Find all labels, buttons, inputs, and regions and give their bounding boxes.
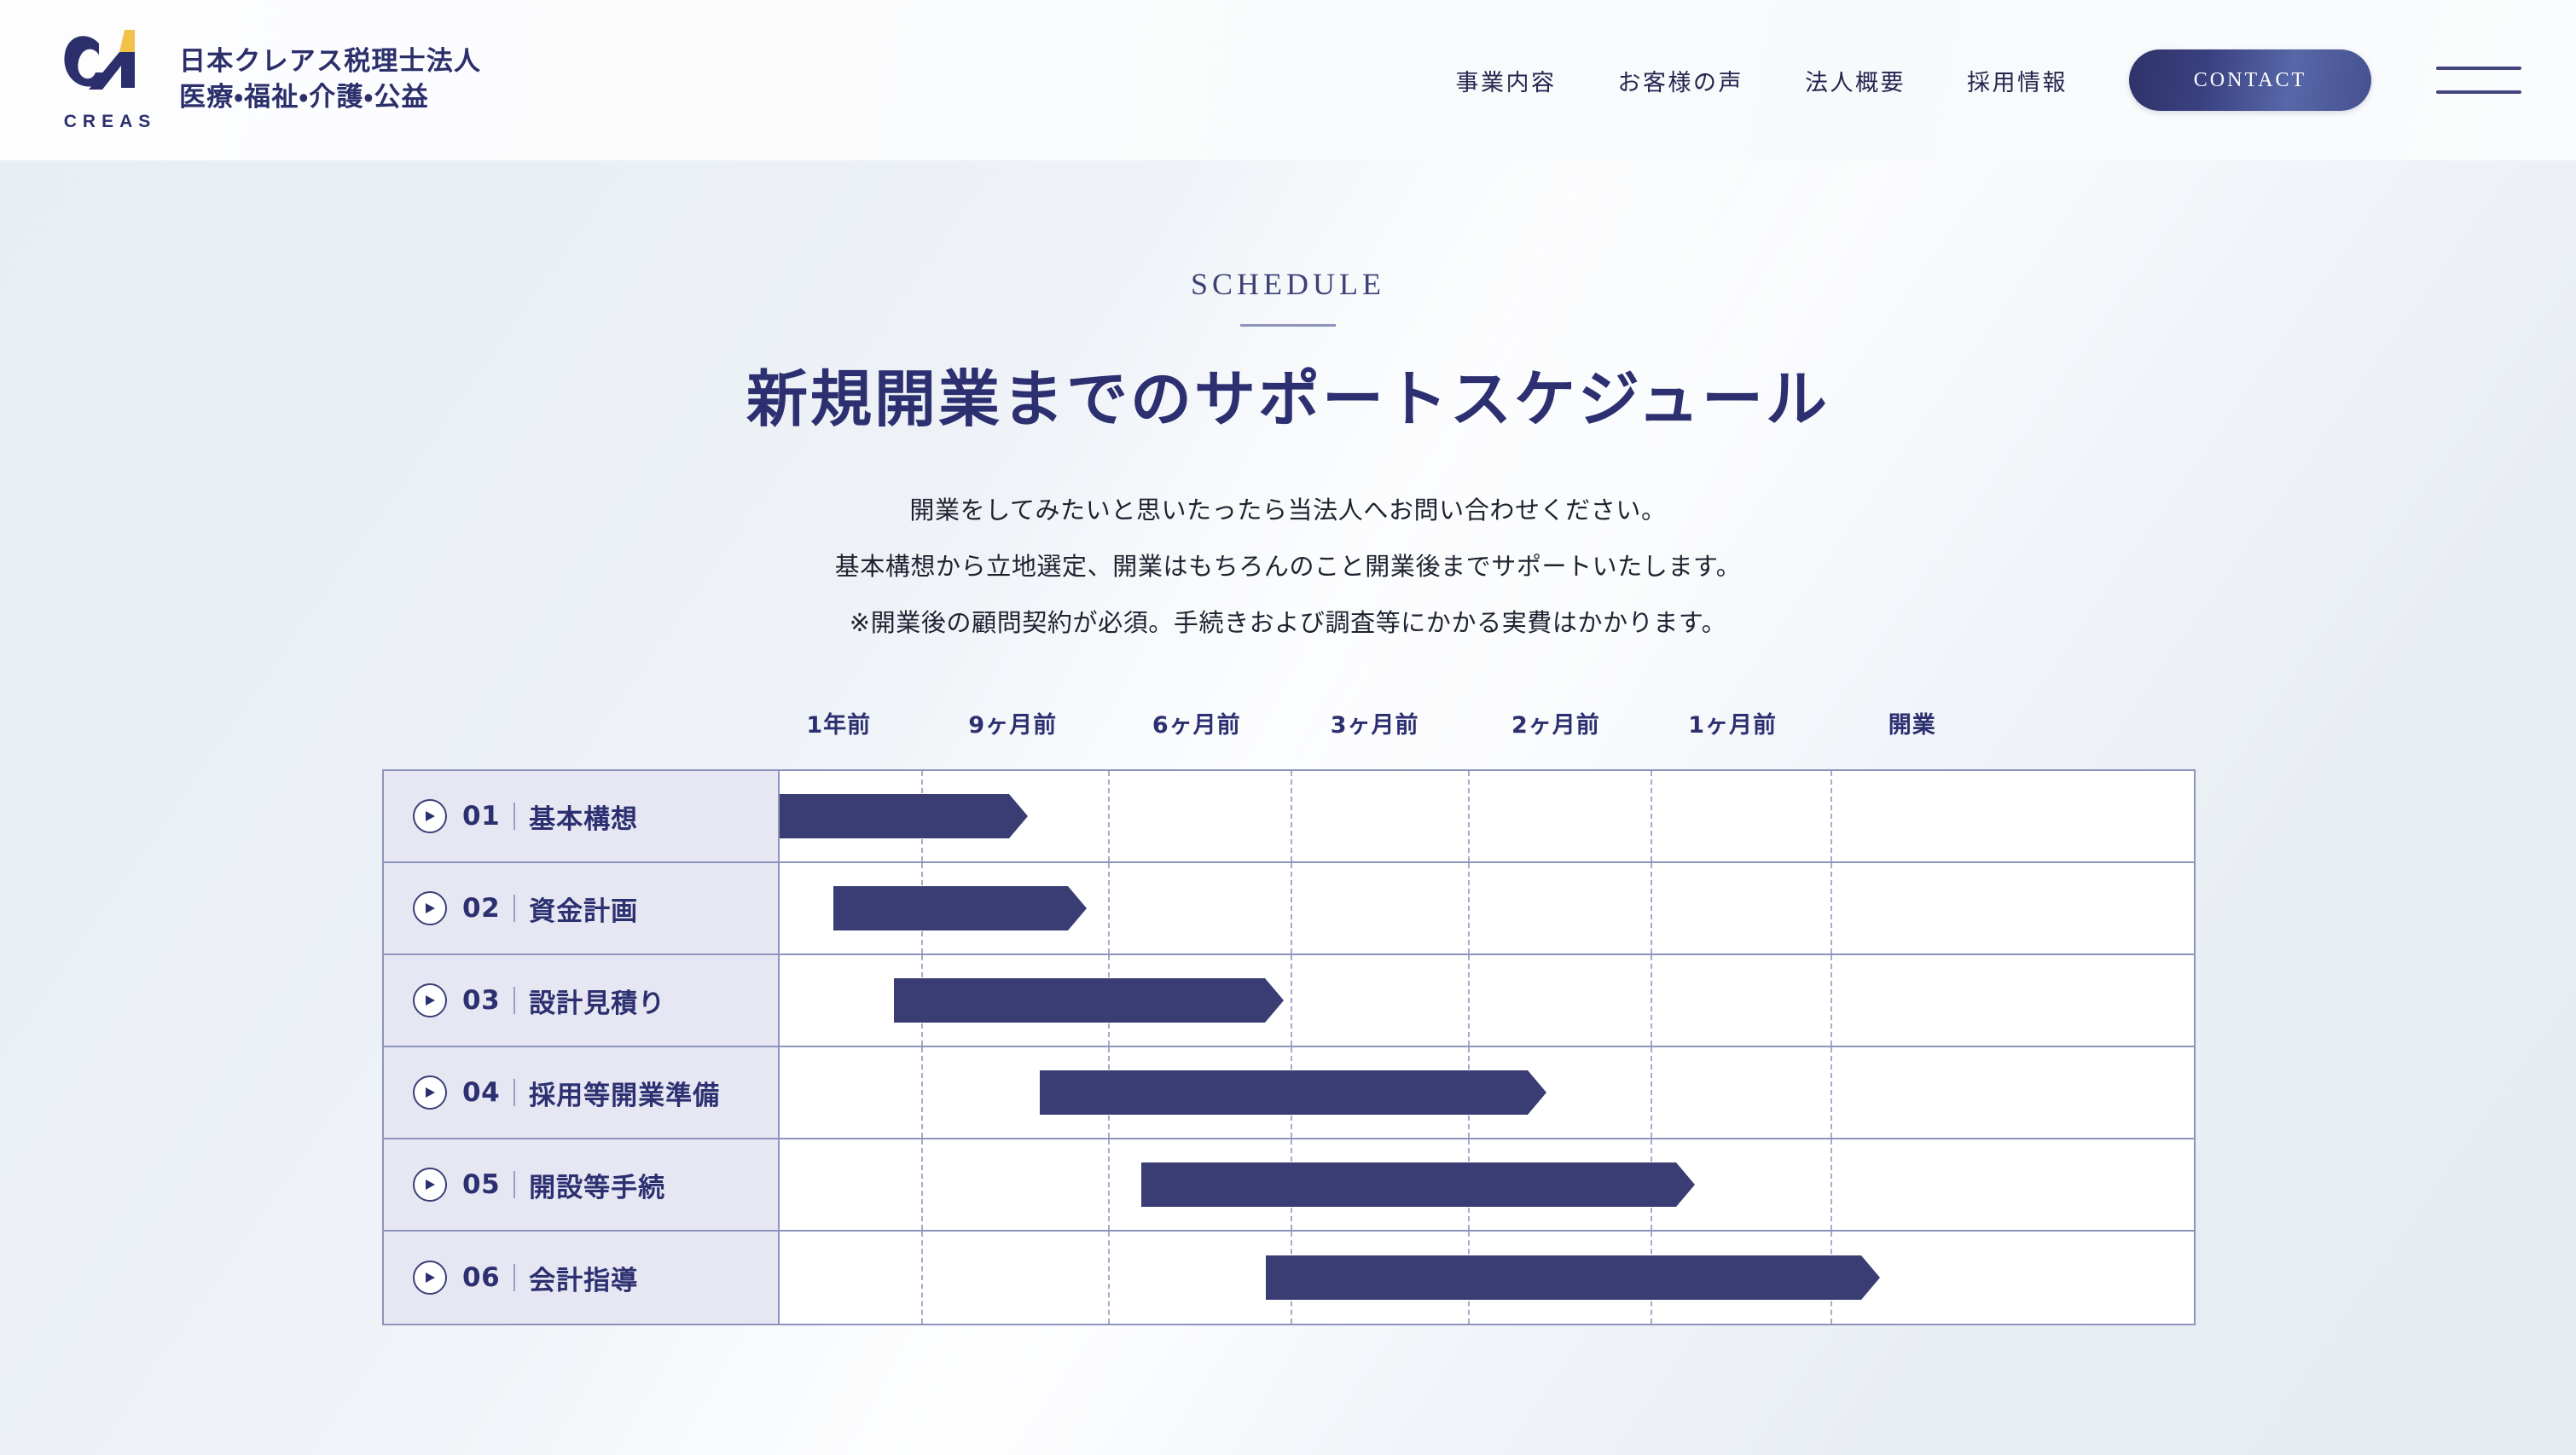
axis-tick-5: 1ヶ月前 (1688, 706, 1777, 739)
gantt-bar-06[interactable] (1266, 1255, 1861, 1300)
gantt-bar-03[interactable] (894, 978, 1264, 1023)
hamburger-line-bottom (2436, 90, 2521, 94)
gantt-bar-04[interactable] (1040, 1070, 1528, 1115)
play-circle-icon[interactable] (413, 983, 447, 1017)
gantt-row-title: 資金計画 (529, 890, 638, 928)
gantt-row-title: 設計見積り (529, 982, 665, 1020)
section-eyebrow: SCHEDULE (0, 266, 2576, 302)
gantt-row-label-02: 02資金計画 (384, 863, 780, 954)
gantt-bar-05[interactable] (1141, 1162, 1676, 1207)
gantt-gridline-4 (1651, 1047, 1652, 1138)
gantt-gridline-1 (1108, 1232, 1110, 1324)
gantt-row-label-06: 06会計指導 (384, 1232, 780, 1324)
gantt-row[interactable]: 01基本構想 (384, 771, 2194, 863)
gantt-gridline-5 (1830, 955, 1832, 1046)
gantt-gridline-0 (921, 1047, 923, 1138)
play-circle-icon[interactable] (413, 1168, 447, 1202)
axis-tick-3: 3ヶ月前 (1331, 706, 1419, 739)
brand-line-2: 医療・福祉・介護・公益 (179, 80, 481, 116)
gantt-row-number: 02 (462, 893, 500, 924)
axis-tick-0: 1年前 (806, 706, 871, 739)
play-circle-icon[interactable] (413, 799, 447, 833)
lead-paragraphs: 開業をしてみたいと思いたったら当法人へお問い合わせください。 基本構想から立地選… (0, 498, 2576, 635)
gantt-gridline-4 (1651, 771, 1652, 861)
schedule-gantt-chart: 1年前9ヶ月前6ヶ月前3ヶ月前2ヶ月前1ヶ月前開業 01基本構想02資金計画03… (382, 706, 2196, 1325)
gantt-gridline-1 (1108, 1139, 1110, 1230)
gantt-gridline-5 (1830, 1047, 1832, 1138)
gantt-gridline-0 (921, 1139, 923, 1230)
gantt-row[interactable]: 04採用等開業準備 (384, 1047, 2194, 1139)
nav-item-company[interactable]: 法人概要 (1805, 64, 1906, 97)
gantt-row-number: 06 (462, 1262, 500, 1293)
gantt-row[interactable]: 03設計見積り (384, 955, 2194, 1047)
nav-item-services[interactable]: 事業内容 (1456, 64, 1557, 97)
gantt-gridline-4 (1651, 863, 1652, 954)
gantt-row-number: 04 (462, 1077, 500, 1108)
gantt-row-label-04: 04採用等開業準備 (384, 1047, 780, 1138)
gantt-gridline-2 (1291, 771, 1292, 861)
label-divider (513, 1171, 515, 1198)
site-header: CREAS 日本クレアス税理士法人 医療・福祉・介護・公益 事業内容 お客様の声… (0, 0, 2576, 160)
creas-logo-icon: CREAS (60, 26, 160, 134)
label-divider (513, 987, 515, 1014)
gantt-row-number: 05 (462, 1169, 500, 1200)
gantt-row-number: 03 (462, 985, 500, 1016)
gantt-row-number: 01 (462, 801, 500, 832)
gantt-table: 01基本構想02資金計画03設計見積り04採用等開業準備05開設等手続06会計指… (382, 769, 2196, 1325)
gantt-row-title: 基本構想 (529, 797, 638, 836)
gantt-row[interactable]: 06会計指導 (384, 1232, 2194, 1324)
label-divider (513, 1264, 515, 1291)
axis-tick-6: 開業 (1888, 706, 1936, 739)
axis-tick-4: 2ヶ月前 (1511, 706, 1600, 739)
gantt-gridline-5 (1830, 863, 1832, 954)
gantt-bar-01[interactable] (780, 794, 1009, 838)
play-circle-icon[interactable] (413, 891, 447, 925)
play-circle-icon[interactable] (413, 1261, 447, 1295)
brand-text: 日本クレアス税理士法人 医療・福祉・介護・公益 (179, 44, 481, 115)
gantt-row[interactable]: 02資金計画 (384, 863, 2194, 955)
contact-button[interactable]: CONTACT (2129, 49, 2371, 111)
gantt-gridline-5 (1830, 1139, 1832, 1230)
gantt-row-track (780, 1139, 2194, 1230)
gantt-row-label-01: 01基本構想 (384, 771, 780, 861)
label-divider (513, 895, 515, 922)
gantt-row-track (780, 955, 2194, 1046)
brand-logo[interactable]: CREAS 日本クレアス税理士法人 医療・福祉・介護・公益 (60, 26, 481, 134)
gantt-row-track (780, 1232, 2194, 1324)
main-navigation: 事業内容 お客様の声 法人概要 採用情報 CONTACT (1456, 49, 2576, 111)
gantt-axis: 1年前9ヶ月前6ヶ月前3ヶ月前2ヶ月前1ヶ月前開業 (382, 706, 2196, 769)
page-title: 新規開業までのサポートスケジュール (0, 361, 2576, 438)
axis-tick-2: 6ヶ月前 (1152, 706, 1241, 739)
lead-line-1: 開業をしてみたいと思いたったら当法人へお問い合わせください。 (0, 498, 2576, 523)
gantt-row-title: 会計指導 (529, 1259, 638, 1297)
gantt-row[interactable]: 05開設等手続 (384, 1139, 2194, 1232)
gantt-gridline-5 (1830, 771, 1832, 861)
gantt-row-title: 採用等開業準備 (529, 1074, 720, 1112)
hamburger-line-top (2436, 67, 2521, 70)
axis-tick-1: 9ヶ月前 (968, 706, 1057, 739)
section-heading: SCHEDULE 新規開業までのサポートスケジュール (0, 266, 2576, 438)
gantt-gridline-3 (1468, 863, 1470, 954)
gantt-row-track (780, 1047, 2194, 1138)
nav-item-voices[interactable]: お客様の声 (1618, 64, 1744, 97)
gantt-gridline-1 (1108, 771, 1110, 861)
play-circle-icon[interactable] (413, 1075, 447, 1110)
gantt-gridline-2 (1291, 863, 1292, 954)
gantt-bar-02[interactable] (833, 886, 1068, 930)
gantt-row-label-03: 03設計見積り (384, 955, 780, 1046)
gantt-gridline-2 (1291, 955, 1292, 1046)
lead-line-3: ※開業後の顧問契約が必須。手続きおよび調査等にかかる実費はかかります。 (0, 611, 2576, 635)
hamburger-menu-icon[interactable] (2436, 66, 2521, 95)
gantt-gridline-3 (1468, 771, 1470, 861)
gantt-gridline-1 (1108, 863, 1110, 954)
logo-caption: CREAS (60, 112, 160, 132)
section-divider (1240, 324, 1336, 327)
brand-line-1: 日本クレアス税理士法人 (179, 44, 481, 80)
gantt-row-title: 開設等手続 (529, 1166, 665, 1204)
gantt-gridline-4 (1651, 955, 1652, 1046)
label-divider (513, 1079, 515, 1106)
label-divider (513, 803, 515, 830)
nav-item-recruit[interactable]: 採用情報 (1967, 64, 2068, 97)
gantt-gridline-0 (921, 1232, 923, 1324)
gantt-row-track (780, 863, 2194, 954)
gantt-gridline-3 (1468, 955, 1470, 1046)
gantt-row-label-05: 05開設等手続 (384, 1139, 780, 1230)
lead-line-2: 基本構想から立地選定、開業はもちろんのこと開業後までサポートいたします。 (0, 554, 2576, 579)
gantt-row-track (780, 771, 2194, 861)
